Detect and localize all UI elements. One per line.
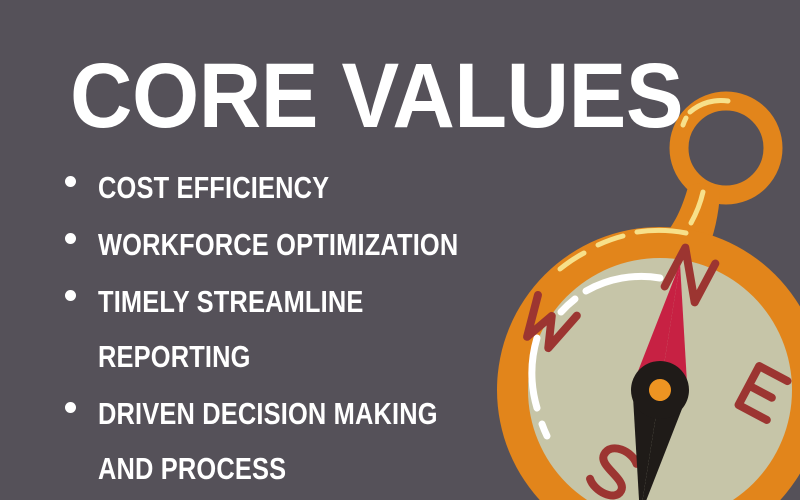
list-item-label: TIMELY STREAMLINE REPORTING	[98, 274, 495, 384]
list-item: WORKFORCE OPTIMIZATION	[62, 217, 582, 272]
bullet-icon	[65, 402, 76, 413]
text-content-block: CORE VALUES COST EFFICIENCY WORKFORCE OP…	[0, 0, 800, 500]
bullet-icon	[65, 290, 76, 301]
list-item-label: DRIVEN DECISION MAKING AND PROCESS MANAG…	[98, 386, 495, 500]
list-item: DRIVEN DECISION MAKING AND PROCESS MANAG…	[62, 386, 582, 500]
bullet-icon	[65, 233, 76, 244]
list-item: COST EFFICIENCY	[62, 160, 582, 215]
bullet-icon	[65, 176, 76, 187]
slide-canvas: CORE VALUES COST EFFICIENCY WORKFORCE OP…	[0, 0, 800, 500]
page-title: CORE VALUES	[70, 48, 683, 144]
list-item: TIMELY STREAMLINE REPORTING	[62, 274, 582, 384]
core-values-list: COST EFFICIENCY WORKFORCE OPTIMIZATION T…	[62, 160, 582, 500]
list-item-label: COST EFFICIENCY	[98, 160, 495, 215]
list-item-label: WORKFORCE OPTIMIZATION	[98, 217, 495, 272]
